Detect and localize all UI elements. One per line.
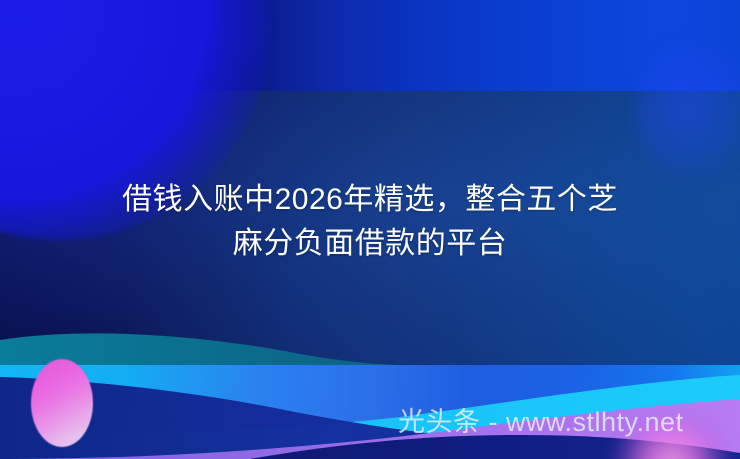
banner-title: 借钱入账中2026年精选，整合五个芝 麻分负面借款的平台: [0, 178, 740, 266]
pink-ellipse-icon: [31, 359, 93, 447]
blue-glow-icon: [636, 38, 740, 188]
promo-banner: 借钱入账中2026年精选，整合五个芝 麻分负面借款的平台 光头条 - www.s…: [0, 0, 740, 459]
